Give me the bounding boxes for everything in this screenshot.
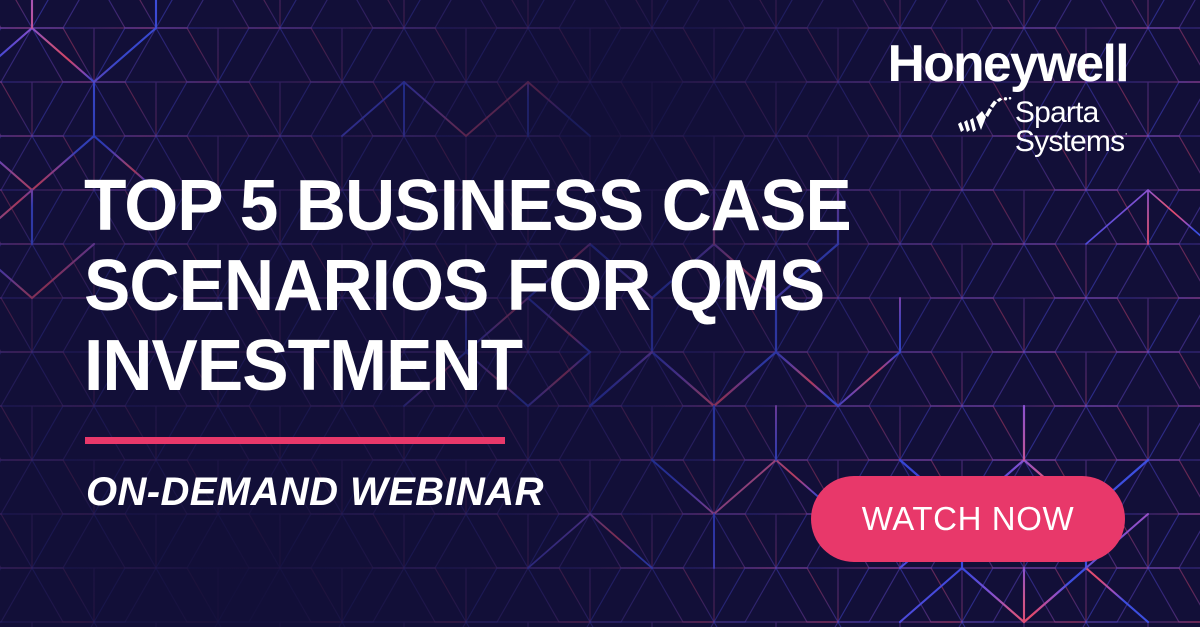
honeywell-wordmark: Honeywell (869, 40, 1128, 89)
sparta-systems-logo: Sparta Systems· (866, 99, 1128, 156)
trademark-mark: · (1124, 128, 1128, 140)
headline-line-2: SCENARIOS FOR QMS (84, 246, 1030, 326)
webinar-promo-banner: Honeywell Spart (0, 0, 1200, 627)
accent-divider (85, 437, 505, 444)
headline-line-1: TOP 5 BUSINESS CASE (84, 166, 1030, 246)
headline-line-3: INVESTMENT (84, 326, 1030, 406)
sparta-checkmark-swoosh-icon (957, 97, 1013, 145)
sparta-line-2-text: Systems (1015, 125, 1124, 158)
sparta-line-2: Systems· (1015, 128, 1128, 157)
sparta-systems-wordmark: Sparta Systems· (1015, 99, 1128, 156)
page-title: TOP 5 BUSINESS CASE SCENARIOS FOR QMS IN… (84, 166, 1030, 406)
brand-logo-lockup: Honeywell Spart (866, 40, 1128, 156)
watch-now-button[interactable]: WATCH NOW (811, 476, 1125, 562)
sparta-line-1: Sparta (1015, 99, 1128, 128)
format-label: ON-DEMAND WEBINAR (86, 468, 544, 516)
